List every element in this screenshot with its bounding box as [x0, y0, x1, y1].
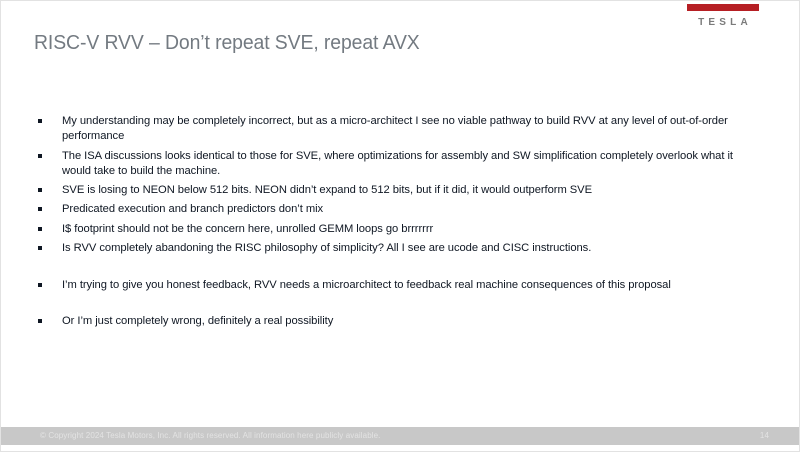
presentation-slide: TESLA RISC-V RVV – Don’t repeat SVE, rep… — [0, 0, 800, 452]
tesla-logo-bar-icon — [687, 4, 759, 11]
bullet-square-icon — [38, 188, 42, 192]
bullet-square-icon — [38, 246, 42, 250]
tesla-logo: TESLA — [687, 4, 759, 28]
list-item: The ISA discussions looks identical to t… — [34, 149, 734, 180]
list-item: Or I’m just completely wrong, definitely… — [34, 314, 734, 329]
footer-copyright: © Copyright 2024 Tesla Motors, Inc. All … — [40, 431, 381, 440]
list-item: Predicated execution and branch predicto… — [34, 202, 734, 217]
tesla-wordmark: TESLA — [687, 18, 759, 28]
bullet-square-icon — [38, 207, 42, 211]
bullet-square-icon — [38, 154, 42, 158]
list-item-text: My understanding may be completely incor… — [62, 114, 734, 145]
list-item-text: SVE is losing to NEON below 512 bits. NE… — [62, 183, 734, 198]
slide-number: 14 — [760, 431, 769, 440]
slide-body: My understanding may be completely incor… — [34, 114, 734, 333]
slide-footer: © Copyright 2024 Tesla Motors, Inc. All … — [1, 427, 799, 445]
bullet-square-icon — [38, 119, 42, 123]
list-item: I$ footprint should not be the concern h… — [34, 222, 734, 237]
list-item-text: I’m trying to give you honest feedback, … — [62, 278, 734, 293]
list-item-text: I$ footprint should not be the concern h… — [62, 222, 734, 237]
list-item: Is RVV completely abandoning the RISC ph… — [34, 241, 734, 256]
bullet-square-icon — [38, 227, 42, 231]
list-item: My understanding may be completely incor… — [34, 114, 734, 145]
list-item-text: Is RVV completely abandoning the RISC ph… — [62, 241, 734, 256]
list-item-text: Or I’m just completely wrong, definitely… — [62, 314, 734, 329]
bullet-square-icon — [38, 319, 42, 323]
page-title: RISC-V RVV – Don’t repeat SVE, repeat AV… — [34, 32, 420, 55]
bullet-square-icon — [38, 283, 42, 287]
list-item: SVE is losing to NEON below 512 bits. NE… — [34, 183, 734, 198]
list-item-text: Predicated execution and branch predicto… — [62, 202, 734, 217]
list-item-text: The ISA discussions looks identical to t… — [62, 149, 734, 180]
list-item: I’m trying to give you honest feedback, … — [34, 278, 734, 293]
